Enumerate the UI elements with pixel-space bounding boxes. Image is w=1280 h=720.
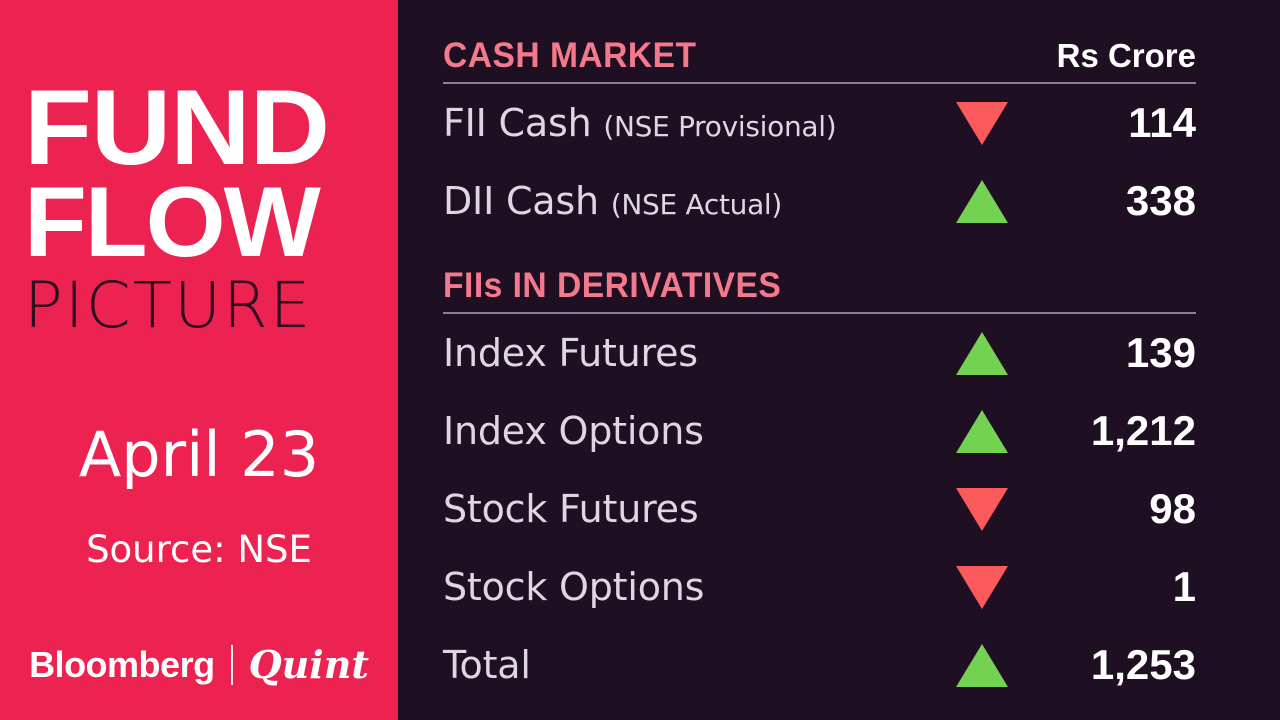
- row-value-dii-cash: 338: [1041, 177, 1196, 225]
- direction-indicator-up: [923, 332, 1041, 375]
- fund-flow-infographic: FUND FLOW PICTURE April 23 Source: NSE B…: [0, 0, 1280, 720]
- brand-word-flow: FLOW: [24, 176, 388, 267]
- row-label-dii-cash: DII Cash (NSE Actual): [443, 179, 923, 223]
- table-row: Stock Futures 98: [443, 470, 1196, 548]
- triangle-up-icon: [956, 644, 1008, 687]
- triangle-up-icon: [956, 410, 1008, 453]
- triangle-up-icon: [956, 180, 1008, 223]
- table-row: Stock Options 1: [443, 548, 1196, 626]
- table-row: DII Cash (NSE Actual) 338: [443, 162, 1196, 240]
- section-title-cash-market: CASH MARKET: [443, 36, 697, 76]
- row-label-main: FII Cash: [443, 101, 591, 145]
- section-cash-market: CASH MARKET Rs Crore FII Cash (NSE Provi…: [443, 36, 1196, 240]
- direction-indicator-up: [923, 180, 1041, 223]
- table-row: FII Cash (NSE Provisional) 114: [443, 84, 1196, 162]
- row-value-index-options: 1,212: [1041, 407, 1196, 455]
- logo-quint-text: Quint: [249, 646, 369, 684]
- direction-indicator-down: [923, 488, 1041, 531]
- data-panel: CASH MARKET Rs Crore FII Cash (NSE Provi…: [398, 0, 1280, 720]
- direction-indicator-up: [923, 644, 1041, 687]
- date-label: April 23: [0, 418, 398, 491]
- section-header-derivatives: FIIs IN DERIVATIVES: [443, 266, 1196, 308]
- section-title-derivatives: FIIs IN DERIVATIVES: [443, 266, 781, 306]
- triangle-down-icon: [956, 102, 1008, 145]
- row-value-index-futures: 139: [1041, 329, 1196, 377]
- source-label: Source: NSE: [0, 528, 398, 571]
- section-fiis-in-derivatives: FIIs IN DERIVATIVES Index Futures 139 In…: [443, 266, 1196, 704]
- row-value-fii-cash: 114: [1041, 99, 1196, 147]
- publisher-logo: Bloomberg Quint: [0, 645, 398, 685]
- triangle-up-icon: [956, 332, 1008, 375]
- row-label-stock-options: Stock Options: [443, 565, 923, 609]
- row-label-index-options: Index Options: [443, 409, 923, 453]
- row-value-stock-options: 1: [1041, 563, 1196, 611]
- section-header-cash-market: CASH MARKET Rs Crore: [443, 36, 1196, 78]
- row-value-total: 1,253: [1041, 641, 1196, 689]
- brand-word-picture: PICTURE: [24, 274, 381, 337]
- direction-indicator-down: [923, 566, 1041, 609]
- brand-word-fund: FUND: [24, 78, 388, 176]
- row-label-stock-futures: Stock Futures: [443, 487, 923, 531]
- direction-indicator-down: [923, 102, 1041, 145]
- row-label-index-futures: Index Futures: [443, 331, 923, 375]
- table-row: Index Options 1,212: [443, 392, 1196, 470]
- table-row: Total 1,253: [443, 626, 1196, 704]
- logo-bloomberg-text: Bloomberg: [29, 647, 215, 683]
- brand-title-block: FUND FLOW PICTURE: [24, 78, 374, 337]
- row-label-sub: (NSE Provisional): [603, 110, 836, 143]
- table-row: Index Futures 139: [443, 314, 1196, 392]
- logo-divider-bar: [231, 645, 233, 685]
- row-label-main: DII Cash: [443, 179, 599, 223]
- row-value-stock-futures: 98: [1041, 485, 1196, 533]
- row-label-sub: (NSE Actual): [611, 188, 782, 221]
- left-brand-panel: FUND FLOW PICTURE April 23 Source: NSE B…: [0, 0, 398, 720]
- triangle-down-icon: [956, 488, 1008, 531]
- triangle-down-icon: [956, 566, 1008, 609]
- direction-indicator-up: [923, 410, 1041, 453]
- unit-label: Rs Crore: [1057, 37, 1196, 75]
- row-label-fii-cash: FII Cash (NSE Provisional): [443, 101, 923, 145]
- row-label-total: Total: [443, 643, 923, 687]
